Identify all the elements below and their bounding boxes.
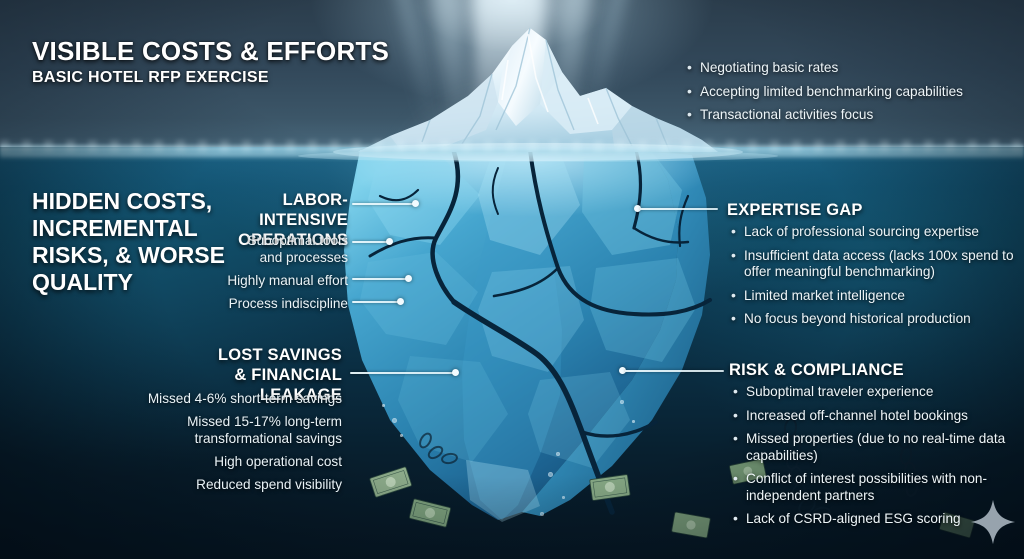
list-item: Missed 15-17% long-term [120,413,342,430]
list-item: Negotiating basic rates [686,60,1006,77]
list-item: Suboptimal traveler experience [732,384,1020,401]
connector-dot-labor-item2 [405,275,412,282]
list-item: Limited market intelligence [730,288,1020,305]
connector-line-risk-compliance [625,370,724,372]
list-item: High operational cost [120,453,342,470]
page-subtitle: BASIC HOTEL RFP EXERCISE [32,68,269,88]
expertise-gap-list: Lack of professional sourcing expertise … [730,224,1020,335]
infographic-canvas: VISIBLE COSTS & EFFORTS BASIC HOTEL RFP … [0,0,1024,559]
list-item: Accepting limited benchmarking capabilit… [686,84,1006,101]
connector-line-labor-item3 [352,301,400,303]
risk-compliance-heading: RISK & COMPLIANCE [729,360,904,380]
connector-dot-labor-heading [412,200,419,207]
connector-dot-labor-item1 [386,238,393,245]
page-title: VISIBLE COSTS & EFFORTS [32,36,389,66]
list-item: Highly manual effort [178,272,348,289]
connector-line-labor-item2 [352,278,408,280]
list-item: Transactional activities focus [686,107,1006,124]
list-item: and processes [178,249,348,266]
connector-line-labor-item1 [352,241,390,243]
expertise-gap-heading: EXPERTISE GAP [727,200,863,220]
list-item: Insufficient data access (lacks 100x spe… [730,248,1020,281]
list-item: Missed 4-6% short-term savings [120,390,342,407]
lost-savings-items: Missed 4-6% short-term savings Missed 15… [120,390,342,499]
connector-line-lost-savings [350,372,455,374]
lost-savings-heading-line1: LOST SAVINGS [150,345,342,365]
list-item: Suboptimal tools [178,232,348,249]
list-item: Missed properties (due to no real-time d… [732,431,1020,464]
labor-intensive-items: Suboptimal tools and processes Highly ma… [178,232,348,318]
sparkle-diamond-logo [970,499,1016,545]
connector-dot-lost-savings [452,369,459,376]
list-item: No focus beyond historical production [730,311,1020,328]
list-item: transformational savings [120,430,342,447]
connector-line-expertise-gap [640,208,718,210]
labor-intensive-heading-line1: LABOR-INTENSIVE [208,190,348,230]
connector-dot-labor-item3 [397,298,404,305]
visible-costs-list: Negotiating basic rates Accepting limite… [686,60,1006,131]
list-item: Increased off-channel hotel bookings [732,408,1020,425]
connector-line-labor-heading [352,203,414,205]
list-item: Lack of professional sourcing expertise [730,224,1020,241]
list-item: Reduced spend visibility [120,476,342,493]
list-item: Process indiscipline [178,295,348,312]
